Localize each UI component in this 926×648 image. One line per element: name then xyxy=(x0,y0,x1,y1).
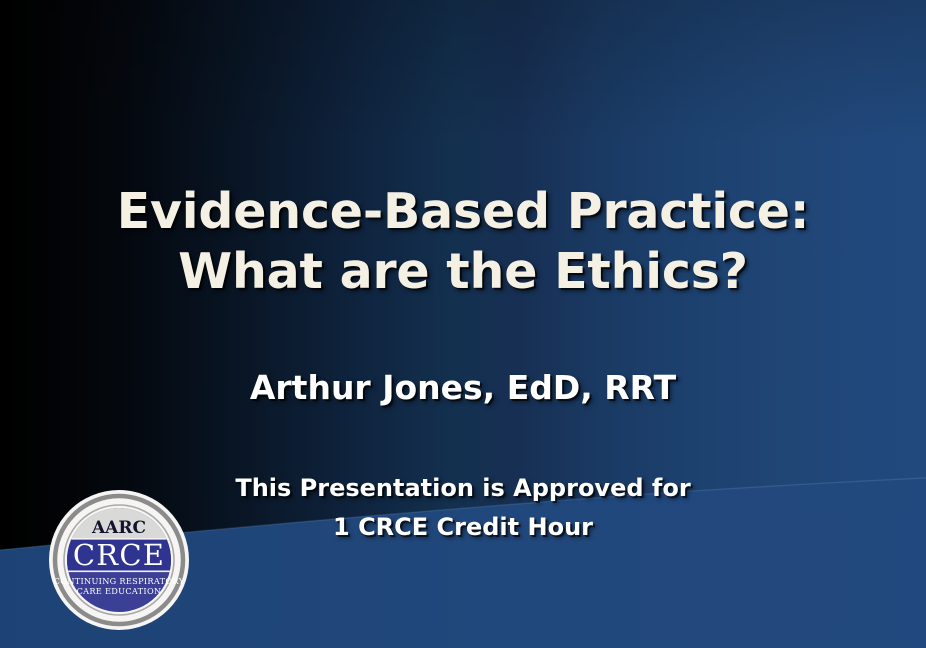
title-line-2: What are the Ethics? xyxy=(0,242,926,302)
aarc-monogram-text: AARC xyxy=(91,518,146,538)
crce-subtitle-line-1: CONTINUING RESPIRATORY xyxy=(54,576,185,586)
crce-acronym-text: CRCE xyxy=(73,538,165,572)
page-title: Evidence-Based Practice: What are the Et… xyxy=(0,182,926,302)
crce-seal-logo: AARC CRCE CONTINUING RESPIRATORY CARE ED… xyxy=(48,489,190,631)
title-line-1: Evidence-Based Practice: xyxy=(0,182,926,242)
presentation-title-slide: Evidence-Based Practice: What are the Et… xyxy=(0,0,926,648)
crce-subtitle-line-2: CARE EDUCATION xyxy=(77,586,162,596)
author-name: Arthur Jones, EdD, RRT xyxy=(0,368,926,408)
